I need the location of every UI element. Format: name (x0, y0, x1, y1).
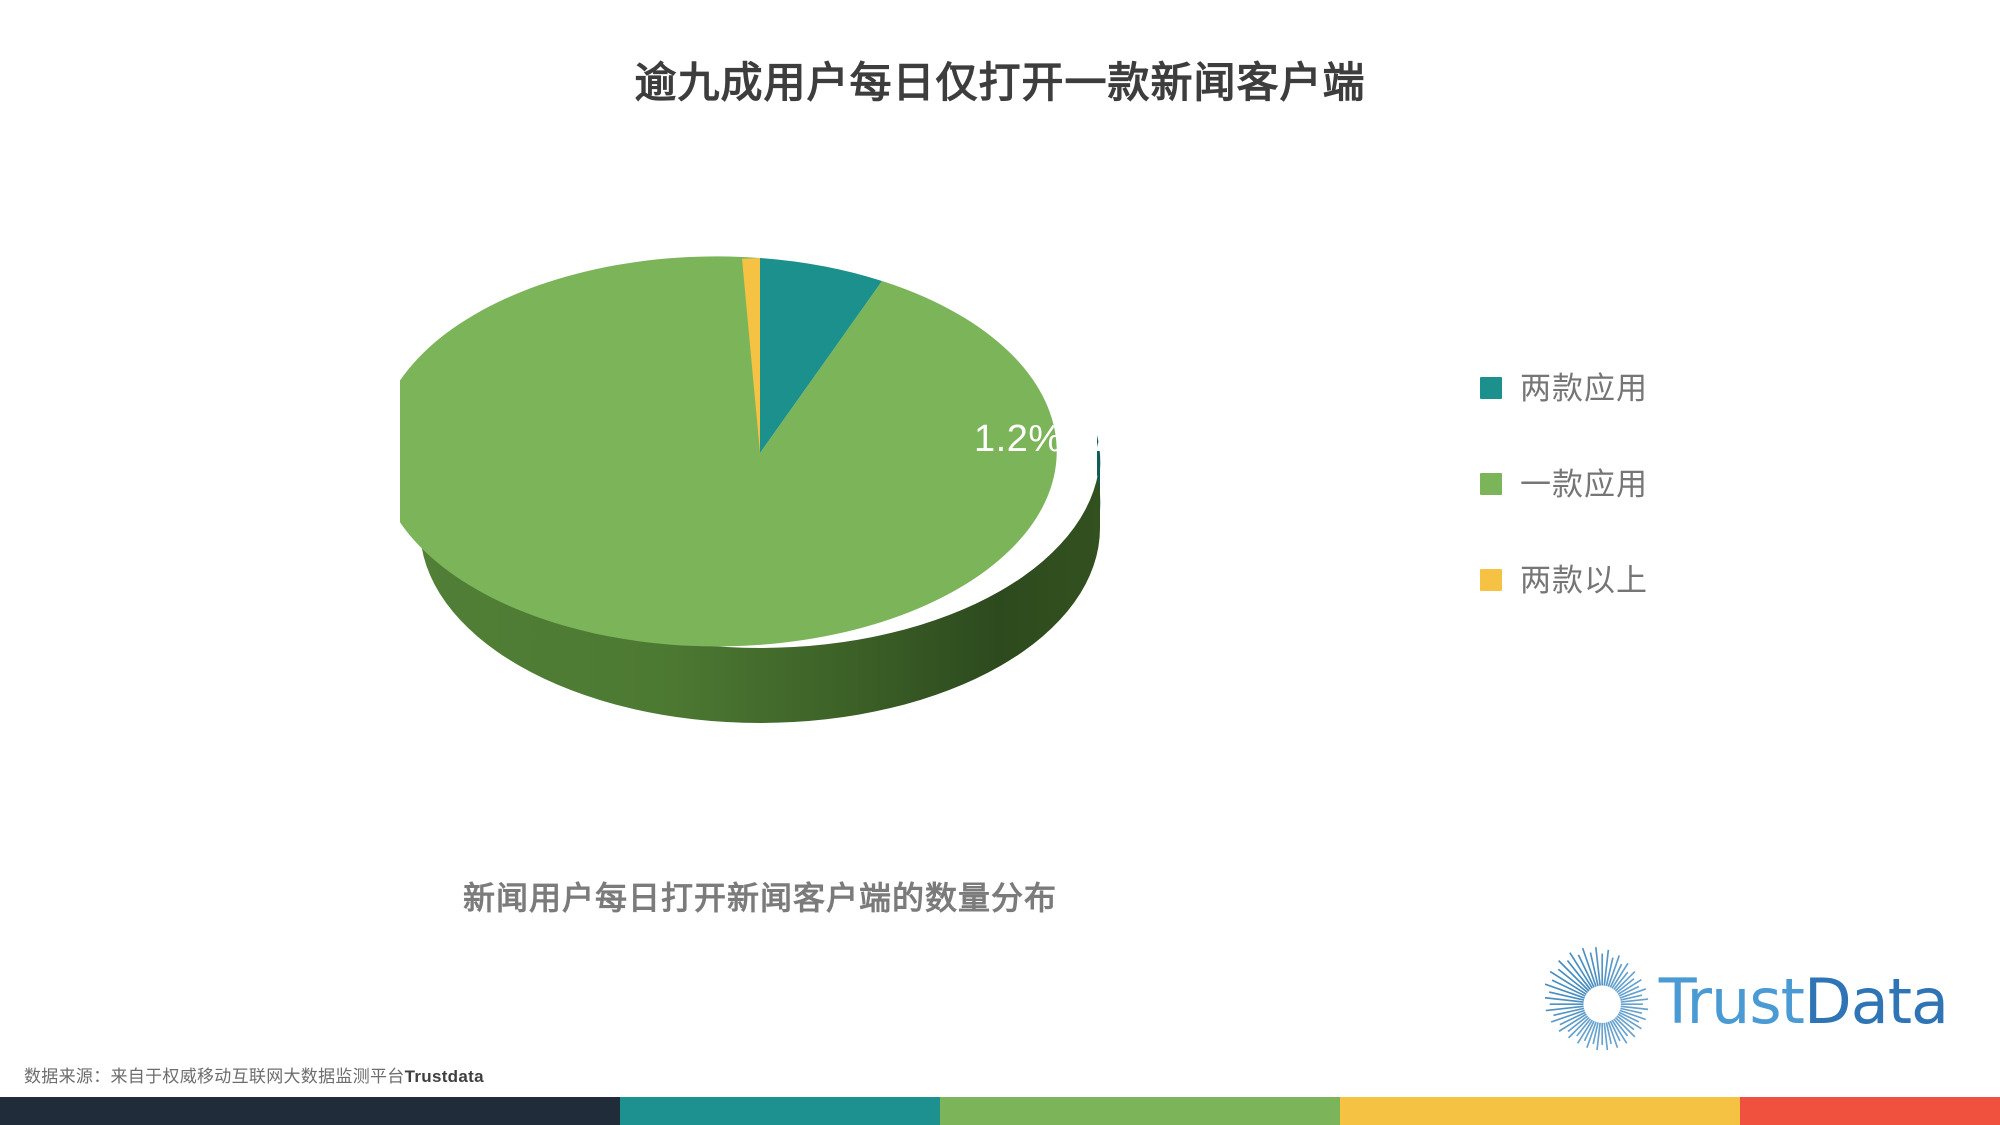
chart-legend: 两款应用 一款应用 两款以上 (1480, 340, 1860, 628)
colorbar-red (1740, 1097, 2000, 1125)
footer-colorbar (0, 1097, 2000, 1125)
legend-label-two-apps: 两款应用 (1520, 373, 1648, 404)
source-note: 数据来源：来自于权威移动互联网大数据监测平台Trustdata (24, 1062, 484, 1087)
source-note-text: 数据来源：来自于权威移动互联网大数据监测平台 (24, 1067, 405, 1086)
data-label-two-apps: 7.8% (1090, 418, 1179, 461)
pie-chart: 1.2% 7.8% 91% (400, 180, 1120, 740)
colorbar-teal (620, 1097, 940, 1125)
brand-logo: TrustData (1545, 947, 1948, 1057)
colorbar-green (940, 1097, 1340, 1125)
brand-logo-text: TrustData (1659, 971, 1948, 1033)
legend-swatch-one-app (1480, 473, 1502, 495)
legend-label-one-app: 一款应用 (1520, 469, 1648, 500)
data-label-one-app: 91% (1205, 600, 1287, 645)
legend-item-one-app[interactable]: 一款应用 (1480, 436, 1860, 532)
legend-item-two-apps[interactable]: 两款应用 (1480, 340, 1860, 436)
legend-swatch-more-apps (1480, 569, 1502, 591)
slide-root: 逾九成用户每日仅打开一款新闻客户端 (0, 0, 2000, 1125)
sunburst-icon (1545, 947, 1655, 1057)
brand-logo-data: Data (1804, 965, 1948, 1038)
legend-item-more-apps[interactable]: 两款以上 (1480, 532, 1860, 628)
source-note-brand: Trustdata (405, 1067, 484, 1086)
pie-slice-one-app-top (400, 256, 1057, 646)
chart-caption: 新闻用户每日打开新闻客户端的数量分布 (380, 873, 1140, 919)
brand-logo-trust: Trust (1659, 965, 1804, 1038)
data-label-more-apps: 1.2% (974, 418, 1063, 461)
page-title: 逾九成用户每日仅打开一款新闻客户端 (0, 58, 2000, 108)
legend-label-more-apps: 两款以上 (1520, 565, 1648, 596)
colorbar-amber (1340, 1097, 1740, 1125)
legend-swatch-two-apps (1480, 377, 1502, 399)
colorbar-navy (0, 1097, 620, 1125)
